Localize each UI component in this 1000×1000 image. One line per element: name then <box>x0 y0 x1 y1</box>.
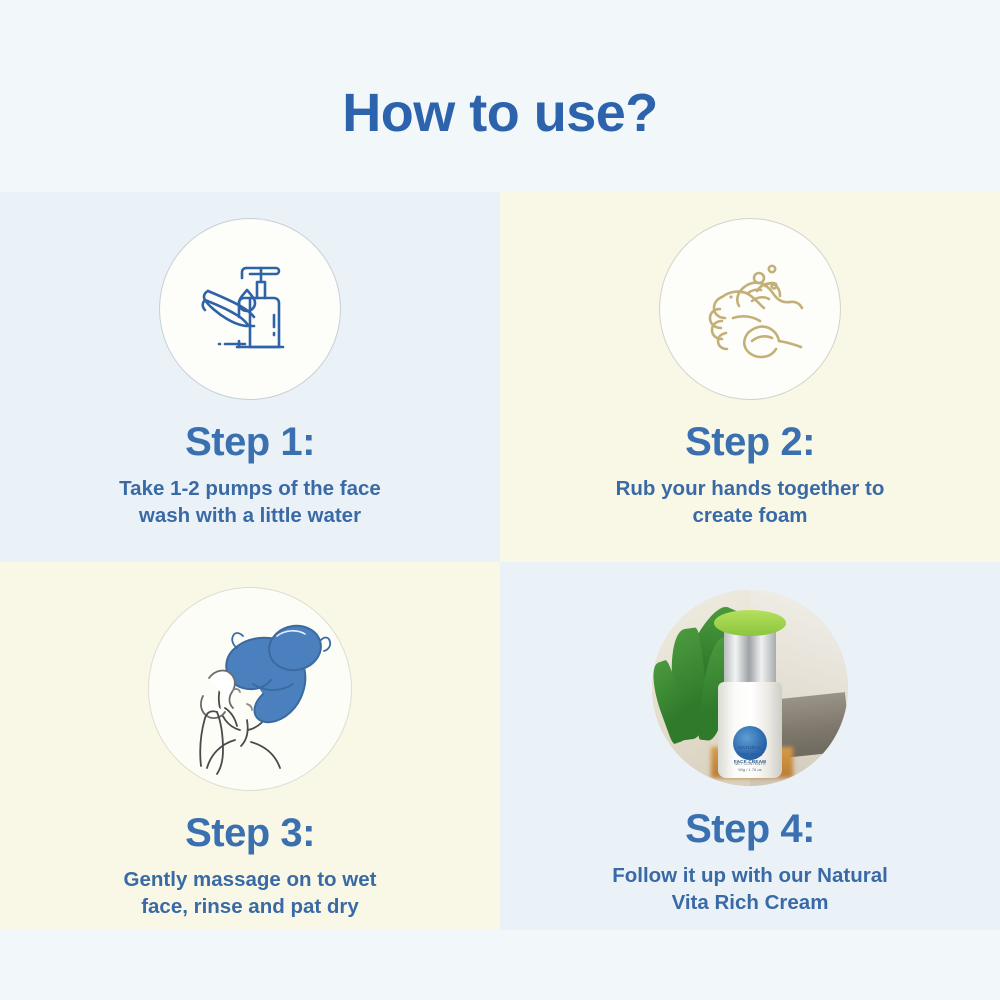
step-4-product-photo: NATURAL VITA RICH FACE CREAM NET CONTENT… <box>652 590 848 786</box>
step-card-3: Step 3: Gently massage on to wet face, r… <box>0 562 500 930</box>
step-3-description: Gently massage on to wet face, rinse and… <box>124 866 377 920</box>
step-card-4: NATURAL VITA RICH FACE CREAM NET CONTENT… <box>500 562 1000 930</box>
step-1-desc-line-1: Take 1-2 pumps of the face <box>119 475 381 502</box>
bottle-label-small-2: 50g / 1.76 oz <box>725 767 775 773</box>
step-3-desc-line-1: Gently massage on to wet <box>124 866 377 893</box>
pump-bottle-hand-icon <box>188 245 312 374</box>
step-3-desc-line-2: face, rinse and pat dry <box>124 893 377 920</box>
step-card-1: Step 1: Take 1-2 pumps of the face wash … <box>0 192 500 562</box>
product-photo-scene: NATURAL VITA RICH FACE CREAM NET CONTENT… <box>652 590 848 786</box>
step-4-description: Follow it up with our Natural Vita Rich … <box>612 862 888 916</box>
step-2-desc-line-1: Rub your hands together to <box>616 475 885 502</box>
page-title: How to use? <box>0 84 1000 143</box>
step-2-icon-circle <box>660 219 840 399</box>
bottle-label-line-1: NATURAL <box>725 745 775 752</box>
step-3-title: Step 3: <box>185 812 315 854</box>
step-4-desc-line-1: Follow it up with our Natural <box>612 862 888 889</box>
step-card-2: Step 2: Rub your hands together to creat… <box>500 192 1000 562</box>
step-1-desc-line-2: wash with a little water <box>119 502 381 529</box>
steps-grid: Step 1: Take 1-2 pumps of the face wash … <box>0 192 1000 930</box>
woman-washing-face-icon <box>155 592 345 787</box>
bottle-label-small: NET CONTENTS 50g / 1.76 oz <box>725 761 775 773</box>
step-2-title: Step 2: <box>685 421 815 463</box>
bottle-cap-green <box>714 610 786 636</box>
step-3-icon-circle <box>149 588 351 790</box>
product-bottle: NATURAL VITA RICH FACE CREAM NET CONTENT… <box>712 610 788 779</box>
bottle-body: NATURAL VITA RICH FACE CREAM NET CONTENT… <box>718 682 782 779</box>
bottle-label-line-2: VITA RICH <box>725 752 775 759</box>
step-1-title: Step 1: <box>185 421 315 463</box>
step-4-title: Step 4: <box>685 808 815 850</box>
step-2-description: Rub your hands together to create foam <box>616 475 885 529</box>
step-2-desc-line-2: create foam <box>616 502 885 529</box>
step-4-desc-line-2: Vita Rich Cream <box>612 889 888 916</box>
step-1-description: Take 1-2 pumps of the face wash with a l… <box>119 475 381 529</box>
rubbing-hands-foam-icon <box>686 245 814 374</box>
step-1-icon-circle <box>160 219 340 399</box>
